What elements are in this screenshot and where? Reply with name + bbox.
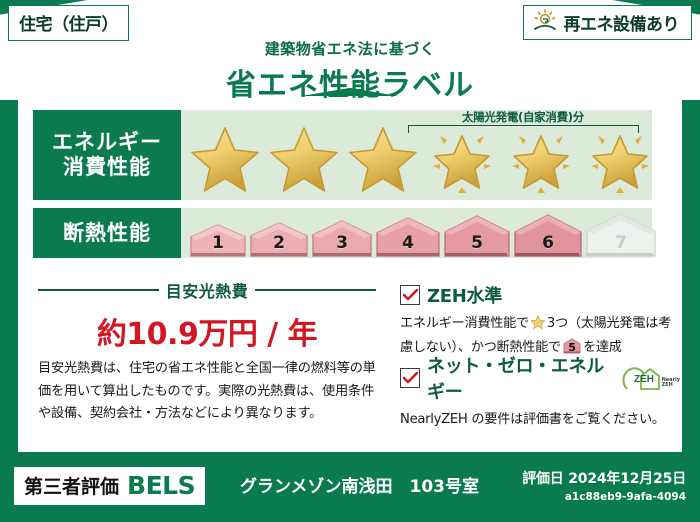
insulation-performance-row: 断熱性能 1 (33, 208, 652, 258)
rule-left (38, 289, 159, 291)
inline-star-icon (530, 314, 546, 337)
insulation-level-number: 4 (402, 233, 414, 258)
zeh-logo-icon: ZEH (620, 365, 660, 391)
check-icon (403, 372, 418, 384)
rule-right (255, 289, 376, 291)
insulation-row-label: 断熱性能 (33, 208, 181, 258)
utility-cost-heading-text: 目安光熱費 (166, 278, 249, 302)
insulation-level-6: 6 (513, 212, 583, 258)
bels-badge: 第三者評価 BELS (14, 467, 205, 505)
badge-building-type: 住宅（住戸） (8, 5, 129, 41)
zeh-standard-header: ZEH水準 (400, 282, 680, 308)
insulation-level-number: 3 (336, 233, 348, 258)
zeh-house-logo: ZEH Nearly ZEH (620, 365, 680, 391)
utility-cost-heading: 目安光熱費 (38, 278, 376, 302)
bels-jp-text: 第三者評価 (24, 472, 119, 499)
insulation-level-number: 2 (273, 233, 285, 258)
check-icon (403, 289, 418, 301)
star-filled-solar (424, 122, 500, 196)
inline-insulation-number: 5 (563, 339, 581, 357)
insulation-level-3: 3 (311, 218, 373, 258)
star-filled (266, 122, 342, 196)
label-title-block: 建築物省エネ法に基づく 省エネ性能ラベル (0, 38, 700, 104)
net-zero-energy-title: ネット・ゼロ・エネルギー (427, 352, 609, 404)
property-name: グランメゾン南浅田 103号室 (240, 472, 479, 497)
insulation-level-1: 1 (189, 222, 247, 258)
insulation-level-number: 1 (212, 233, 224, 258)
utility-cost-value: 約10.9万円 / 年 (38, 309, 376, 353)
zeh-standard-block: ZEH水準 エネルギー消費性能で 3つ（太陽光発電は考慮しない）、かつ断熱性能で… (400, 282, 680, 358)
zeh-standard-title: ZEH水準 (427, 282, 502, 308)
zeh-body-pre: エネルギー消費性能で (400, 316, 529, 331)
insulation-level-number: 5 (471, 233, 483, 258)
badge-renewable-energy: 再エネ設備あり (523, 5, 693, 40)
insulation-level-7: 7 (585, 211, 657, 258)
star-filled (187, 122, 263, 196)
energy-performance-row: エネルギー 消費性能 太陽光発電(自家消費)分 (33, 110, 652, 200)
insulation-levels-area: 1 2 (181, 208, 652, 258)
bels-en-text: BELS (127, 471, 195, 500)
energy-label-line1: エネルギー (52, 130, 162, 155)
energy-performance-label: 住宅（住戸） 再エネ設備あり 建築物省エネ法に基づく 省エネ性能ラベル (0, 0, 700, 522)
badge-renewable-label: 再エネ設備あり (564, 10, 680, 35)
utility-cost-block: 目安光熱費 約10.9万円 / 年 (38, 278, 376, 353)
evaluation-info: 評価日 2024年12月25日 a1c88eb9-9afa-4094 (522, 468, 686, 503)
energy-row-label: エネルギー 消費性能 (33, 110, 181, 200)
checkbox-zeh-standard[interactable] (400, 285, 420, 305)
svg-text:ZEH: ZEH (634, 374, 654, 385)
star-rating (187, 122, 658, 196)
main-panel: エネルギー 消費性能 太陽光発電(自家消費)分 (18, 100, 682, 452)
energy-label-line2: 消費性能 (63, 155, 151, 180)
net-zero-energy-block: ネット・ゼロ・エネルギー ZEH Nearly ZEH NearlyZEH の要… (400, 352, 680, 430)
net-zero-energy-body: NearlyZEH の要件は評価書をご覧ください。 (400, 409, 680, 430)
net-zero-energy-header: ネット・ゼロ・エネルギー ZEH Nearly ZEH (400, 352, 680, 404)
checkbox-net-zero-energy[interactable] (400, 368, 420, 388)
page-title: 省エネ性能ラベル (0, 60, 700, 104)
zeh-logo-sub: Nearly ZEH (662, 378, 680, 389)
insulation-level-4: 4 (375, 215, 441, 258)
utility-cost-disclaimer: 目安光熱費は、住宅の省エネ性能と全国一律の燃料等の単価を用いて算出したものです。… (38, 358, 378, 426)
inline-insulation-badge: 5 (563, 338, 581, 354)
insulation-level-number: 7 (615, 233, 627, 258)
star-filled-solar (503, 122, 579, 196)
insulation-level-scale: 1 2 (189, 211, 657, 258)
energy-stars-area: 太陽光発電(自家消費)分 (181, 110, 652, 200)
insulation-level-2: 2 (249, 220, 309, 258)
title-subtitle: 建築物省エネ法に基づく (0, 38, 700, 59)
insulation-level-5: 5 (443, 213, 511, 258)
evaluation-id: a1c88eb9-9afa-4094 (522, 491, 686, 503)
evaluation-date: 評価日 2024年12月25日 (522, 468, 686, 488)
star-filled-solar (582, 122, 658, 196)
star-filled (345, 122, 421, 196)
label-footer: 第三者評価 BELS グランメゾン南浅田 103号室 評価日 2024年12月2… (0, 460, 700, 522)
insulation-level-number: 6 (542, 233, 554, 258)
sun-renewable-icon (532, 9, 558, 35)
zeh-logo-sub2: ZEH (662, 382, 673, 388)
insulation-label-text: 断熱性能 (63, 221, 151, 246)
